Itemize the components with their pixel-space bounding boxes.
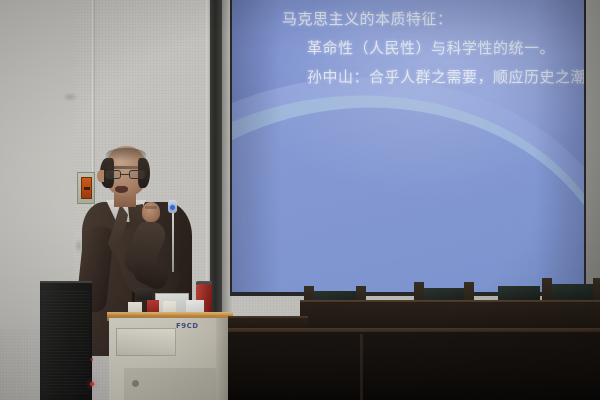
podium-item-dark-object: [136, 288, 152, 300]
podium-front-panel: [116, 328, 176, 356]
microphone-led: [170, 205, 175, 210]
desk-seam: [360, 334, 363, 400]
screen-vignette: [232, 0, 584, 292]
lecture-hall-photograph: 马克思主义的本质特征： 革命性（人民性）与科学性的统一。 孙中山：合乎人群之需要…: [0, 0, 600, 400]
podium-knob[interactable]: [132, 380, 139, 387]
lecturer-raised-fist: [142, 202, 160, 222]
lecturer-knuckles: [145, 206, 157, 209]
lecturer-ear: [97, 170, 104, 182]
projection-screen: 马克思主义的本质特征： 革命性（人民性）与科学性的统一。 孙中山：合乎人群之需要…: [232, 0, 584, 292]
eyeglass-lens-right: [129, 170, 145, 179]
wall-mark-upper: [62, 92, 78, 102]
speaker-power-led: [90, 382, 94, 386]
wall-shadow-right: [586, 0, 600, 292]
eyeglass-lens-left: [105, 170, 121, 179]
speaker-led-secondary: [90, 358, 93, 361]
desk-row-front: [228, 332, 600, 400]
speaker-grill: [42, 290, 90, 394]
eyeglass-bridge: [121, 174, 129, 175]
podium-brand-label: F9CD: [176, 322, 199, 330]
eyeglasses-icon: [104, 170, 147, 179]
microphone-stand: [172, 210, 174, 272]
lecturer-mouth: [115, 186, 128, 193]
podium-top-highlight: [107, 312, 233, 315]
lecturer-brow: [106, 166, 144, 169]
